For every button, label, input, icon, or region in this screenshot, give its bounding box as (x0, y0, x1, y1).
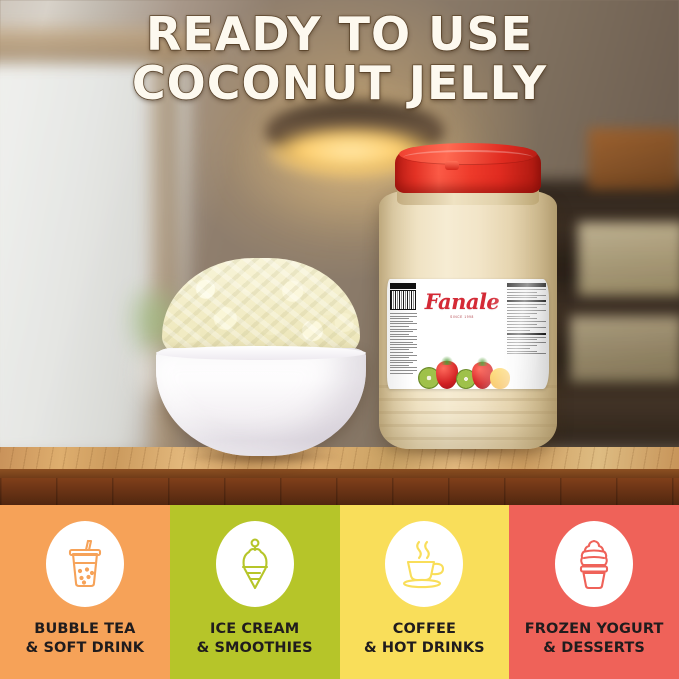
feature-label-bubble-tea: BUBBLE TEA & SOFT DRINK (26, 620, 144, 657)
nutrition-facts-icon (505, 279, 549, 389)
bowl-rim (156, 346, 366, 360)
barcode-icon (390, 290, 416, 310)
headline-line-1: READY TO USE (0, 12, 679, 57)
bubble-tea-cup-icon (46, 521, 124, 607)
jelly-bowl (156, 258, 366, 458)
table-front-face (0, 478, 679, 505)
product-label: Fanale SINCE 1998 (387, 279, 549, 389)
feature-line-1: BUBBLE TEA (26, 620, 144, 639)
feature-line-2: & SMOOTHIES (197, 639, 313, 658)
frozen-yogurt-icon (555, 521, 633, 607)
coffee-cup-icon (385, 521, 463, 607)
feature-line-1: ICE CREAM (197, 620, 313, 639)
headline-line-2: COCONUT JELLY (0, 61, 679, 106)
feature-frozen-yogurt[interactable]: FROZEN YOGURT & DESSERTS (509, 505, 679, 679)
nutrition-rows-top (507, 289, 546, 298)
product-marketing-poster: Fanale SINCE 1998 (0, 0, 679, 679)
fruit-photo-group (414, 349, 510, 389)
brand-name: Fanale (425, 291, 500, 312)
white-bowl (156, 348, 366, 456)
nutrition-title-bar (507, 283, 546, 287)
shelf-box-top (588, 128, 679, 190)
feature-label-frozen-yogurt: FROZEN YOGURT & DESSERTS (525, 620, 664, 657)
mango-icon (490, 368, 510, 389)
feature-line-2: & HOT DRINKS (364, 639, 485, 658)
product-jar: Fanale SINCE 1998 (373, 143, 563, 458)
brand-tagline: SINCE 1998 (450, 315, 474, 319)
feature-coffee[interactable]: COFFEE & HOT DRINKS (340, 505, 510, 679)
feature-label-coffee: COFFEE & HOT DRINKS (364, 620, 485, 657)
feature-line-1: FROZEN YOGURT (525, 620, 664, 639)
feature-label-ice-cream: ICE CREAM & SMOOTHIES (197, 620, 313, 657)
label-black-bar (390, 283, 416, 289)
ingredients-text-lines (390, 313, 417, 374)
jar-cap-ridge (403, 150, 533, 165)
nutrition-rule (507, 333, 546, 335)
use-case-bar: BUBBLE TEA & SOFT DRINK ICE CREAM & SMOO… (0, 505, 679, 679)
feature-line-2: & DESSERTS (525, 639, 664, 658)
feature-bubble-tea[interactable]: BUBBLE TEA & SOFT DRINK (0, 505, 170, 679)
strawberry-icon (436, 361, 458, 389)
page-title: READY TO USE COCONUT JELLY (0, 12, 679, 106)
ice-cream-cone-icon (216, 521, 294, 607)
nutrition-rule (507, 300, 546, 302)
feature-ice-cream[interactable]: ICE CREAM & SMOOTHIES (170, 505, 340, 679)
label-brand-panel: Fanale SINCE 1998 (419, 279, 505, 389)
nutrition-rows-bottom (507, 337, 546, 355)
jar-cap-tab (445, 161, 459, 170)
feature-line-1: COFFEE (364, 620, 485, 639)
feature-line-2: & SOFT DRINK (26, 639, 144, 658)
nutrition-rows-mid (507, 304, 546, 330)
